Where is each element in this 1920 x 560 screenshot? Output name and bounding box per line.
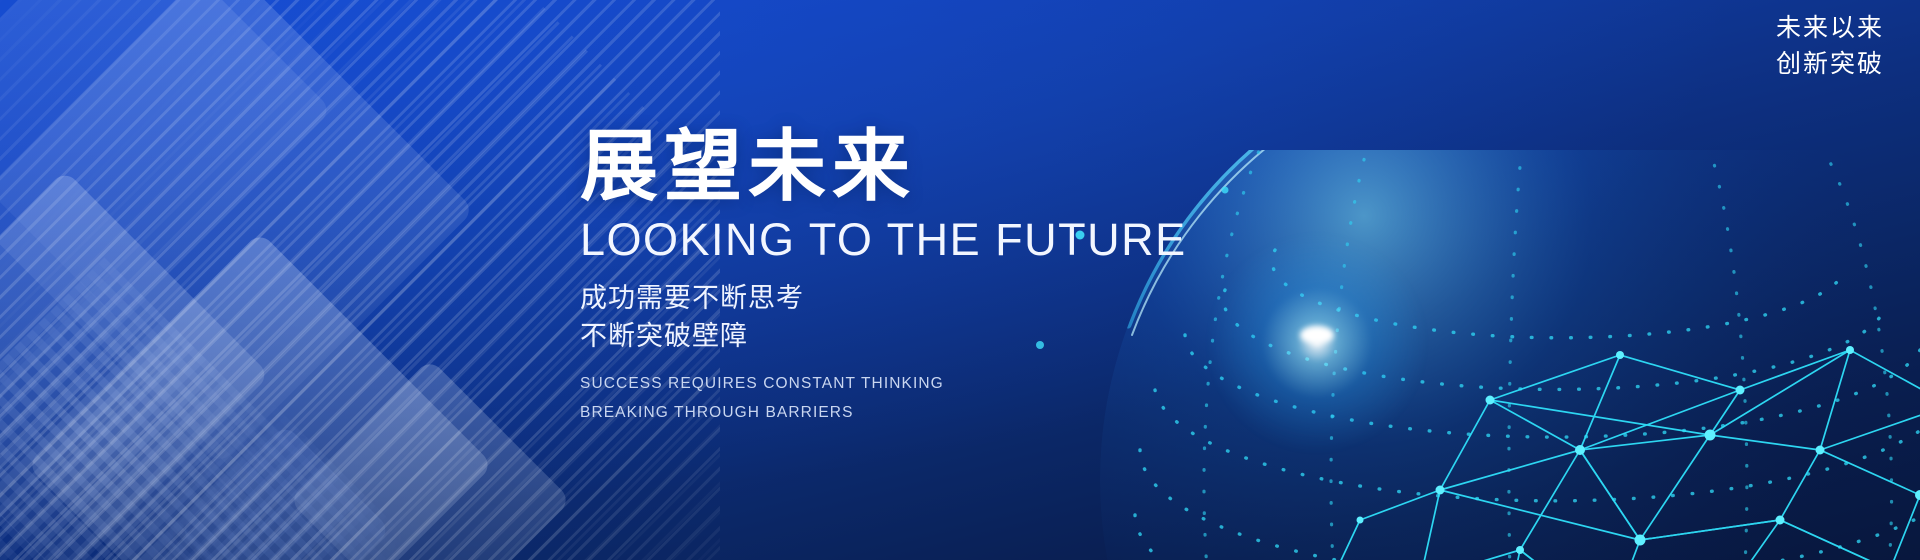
corner-tagline-line1: 未来以来 — [1776, 10, 1884, 46]
globe-glow-core — [1300, 326, 1334, 344]
diagonal-square-6 — [179, 424, 391, 560]
corner-tagline: 未来以来 创新突破 — [1776, 10, 1884, 81]
headline-english: LOOKING TO THE FUTURE — [580, 216, 1200, 264]
globe-glow-highlight — [1202, 228, 1432, 458]
banner-root: 未来以来 创新突破 展望未来 LOOKING TO THE FUTURE 成功需… — [0, 0, 1920, 560]
diagonal-square-5 — [289, 359, 572, 560]
subheading-english-line2: BREAKING THROUGH BARRIERS — [580, 399, 1200, 428]
subheading-chinese-line2: 不断突破壁障 — [580, 318, 1200, 356]
subheading-chinese: 成功需要不断思考 不断突破壁障 — [580, 280, 1200, 357]
diagonal-square-2 — [0, 0, 475, 465]
corner-tagline-line2: 创新突破 — [1776, 46, 1884, 82]
subheading-chinese-line1: 成功需要不断思考 — [580, 280, 1200, 318]
dot-matrix-pattern-1 — [0, 257, 338, 560]
dot-matrix-pattern-2 — [73, 373, 427, 560]
diagonal-square-1 — [0, 0, 332, 322]
headline-chinese: 展望未来 — [580, 128, 1200, 206]
diagonal-square-3 — [0, 170, 270, 560]
diagonal-square-4 — [27, 232, 494, 560]
subheading-english: SUCCESS REQUIRES CONSTANT THINKING BREAK… — [580, 370, 1200, 427]
subheading-english-line1: SUCCESS REQUIRES CONSTANT THINKING — [580, 370, 1200, 399]
copy-block: 展望未来 LOOKING TO THE FUTURE 成功需要不断思考 不断突破… — [580, 128, 1200, 428]
